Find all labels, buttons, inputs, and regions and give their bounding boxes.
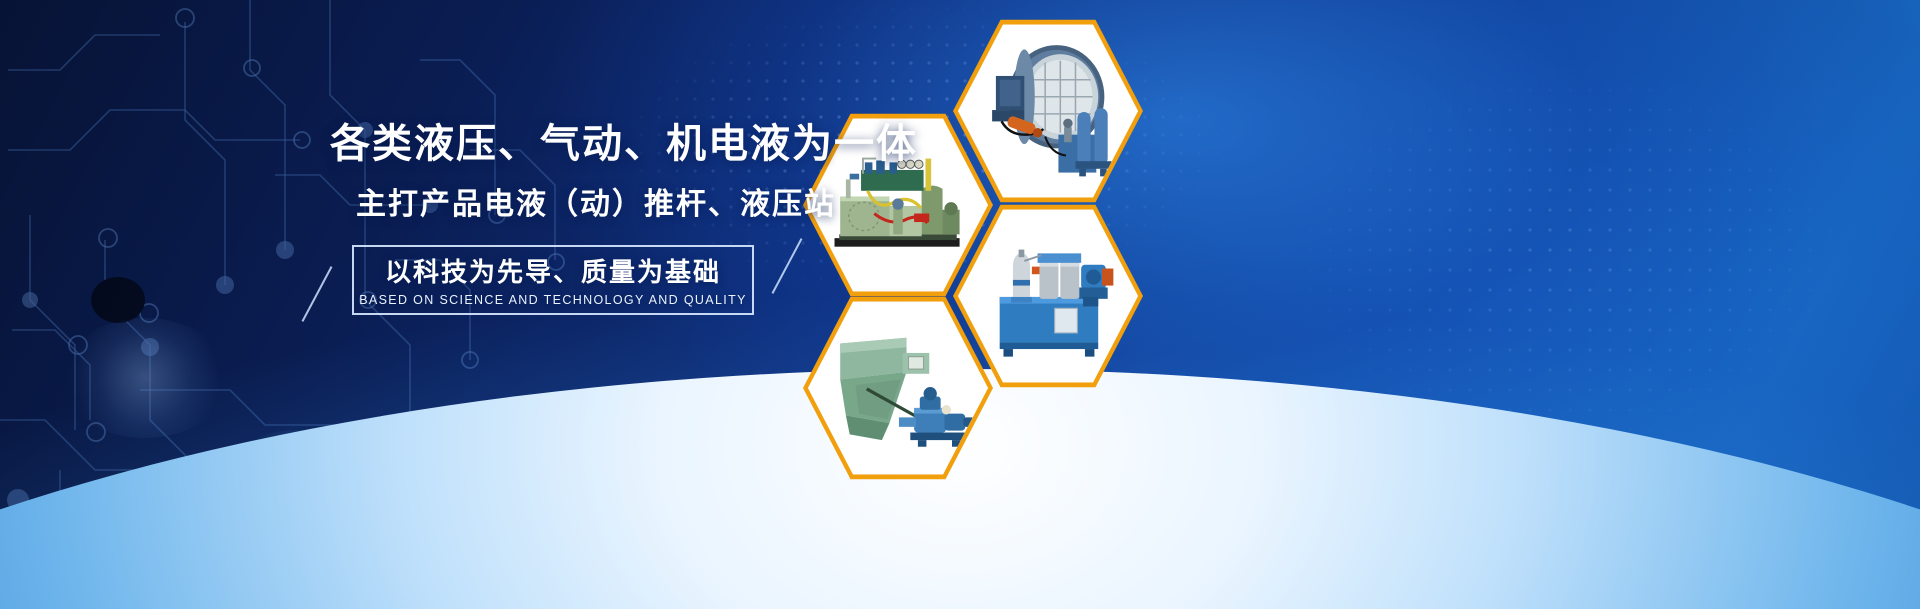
headline-line-1: 各类液压、气动、机电液为一体 <box>330 122 800 167</box>
hero-banner: 各类液压、气动、机电液为一体 主打产品电液（动）推杆、液压站 以科技为先导、质量… <box>0 0 1920 609</box>
butterfly-valve-hydraulic-actuator-image <box>958 21 1138 201</box>
glow-blob <box>230 430 360 520</box>
green-chute-gate-electric-pusher-image <box>808 298 988 478</box>
blue-hydraulic-power-unit-image <box>958 206 1138 386</box>
hexagon-card-blue-hydraulic-power-unit[interactable] <box>953 201 1143 391</box>
hexagon-card-chute-gate-electric-pusher[interactable] <box>803 293 993 483</box>
slash-accent-right <box>772 238 803 294</box>
hexagon-card-butterfly-valve-actuator[interactable] <box>953 16 1143 206</box>
headline-block: 各类液压、气动、机电液为一体 主打产品电液（动）推杆、液压站 以科技为先导、质量… <box>330 122 800 315</box>
glow-blob <box>620 430 770 530</box>
hexagon-photo-frame <box>808 298 988 478</box>
dot-matrix-pattern-right <box>1280 40 1920 470</box>
slogan-chinese: 以科技为先导、质量为基础 <box>385 252 721 289</box>
slash-accent-left <box>302 266 333 322</box>
hexagon-photo-frame <box>958 21 1138 201</box>
slogan-english: BASED ON SCIENCE AND TECHNOLOGY AND QUAL… <box>359 293 747 307</box>
slogan-box: 以科技为先导、质量为基础 BASED ON SCIENCE AND TECHNO… <box>352 245 754 315</box>
headline-line-2: 主打产品电液（动）推杆、液压站 <box>330 179 800 223</box>
glow-blob <box>60 318 230 438</box>
hexagon-photo-frame <box>958 206 1138 386</box>
slogan-block: 以科技为先导、质量为基础 BASED ON SCIENCE AND TECHNO… <box>352 245 754 315</box>
